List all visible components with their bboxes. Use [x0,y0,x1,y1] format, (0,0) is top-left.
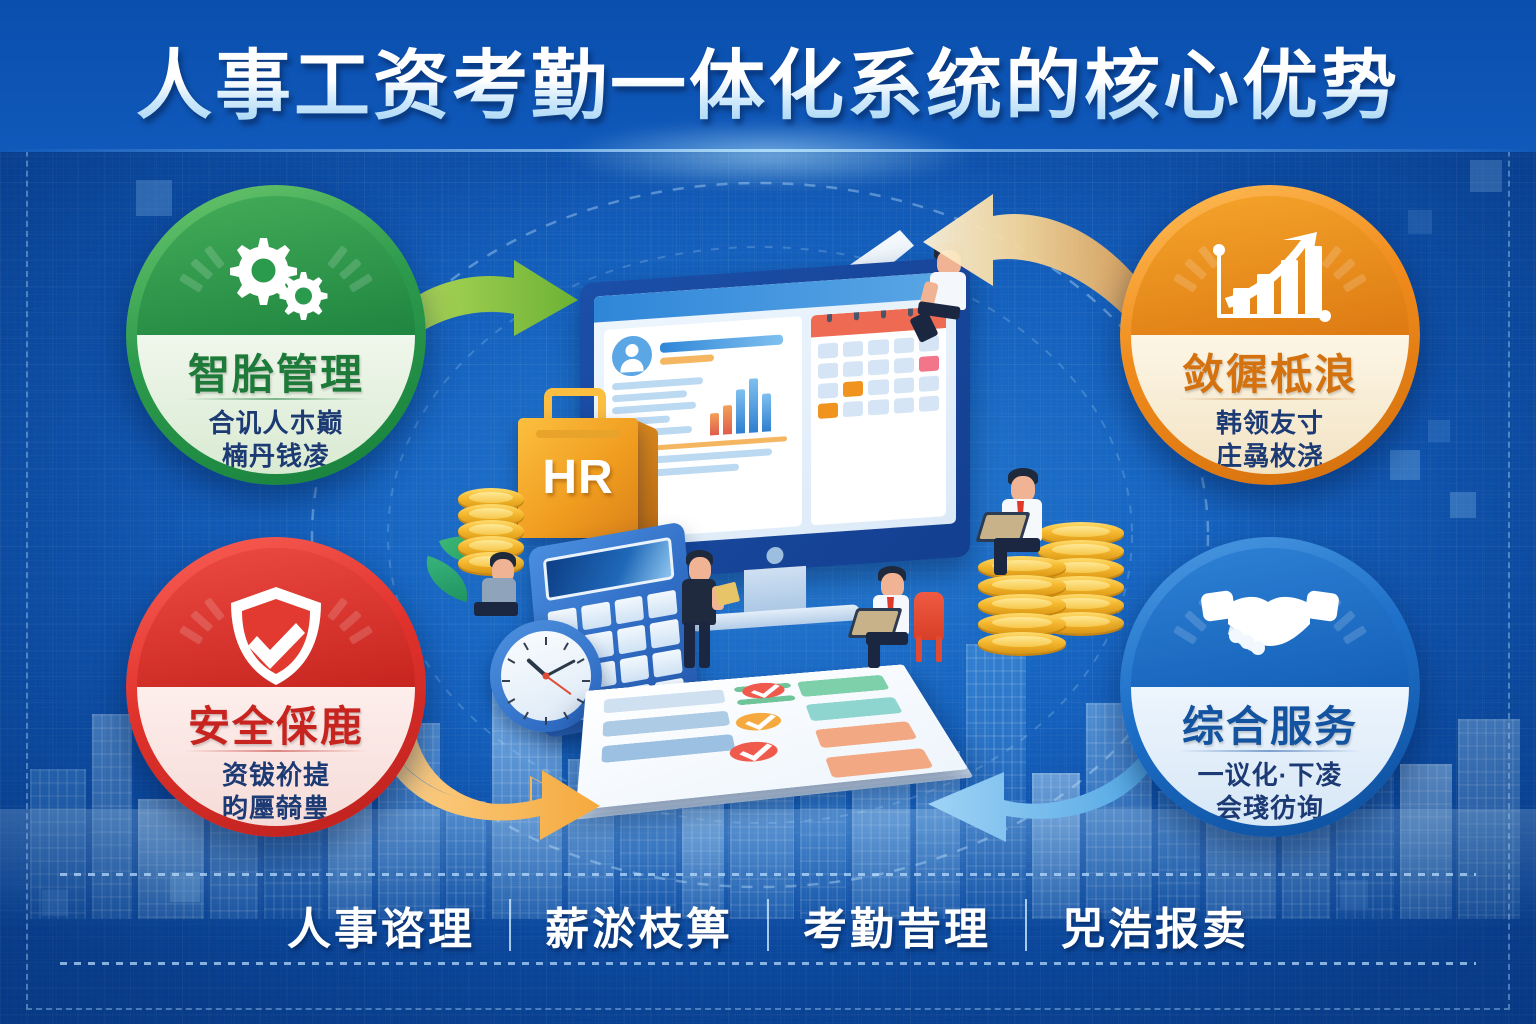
avatar [612,335,652,378]
footer-item-1[interactable]: 薪淤枝箅 [511,893,767,957]
badge-subtitle-line2: 楠丹钱凌 [154,440,399,473]
gears-icon [137,232,415,324]
badge-subtitle-line2: 昀㕓㚡㻃 [154,792,399,825]
badge-subtitle: 韩领友寸 庄骉枚浇 [1148,407,1393,473]
page-title: 人事工资考勤一体化系统的核心优势 [0,44,1536,130]
badge-smart-management[interactable]: 智胎管理 合讥人朩巅 楠丹钱凌 [126,185,426,485]
badge-title: 综合服务 [1131,693,1409,754]
growth-chart-icon [1131,232,1409,324]
badge-efficiency-boost[interactable]: 敛徲柢浪 韩领友寸 庄骉枚浇 [1120,185,1420,485]
badge-subtitle-line1: 合讥人朩巅 [154,407,399,440]
person-with-laptop-seated [860,566,932,671]
handshake-icon [1131,584,1409,664]
badge-subtitle-line2: 会琖彷询 [1148,792,1393,825]
badge-divider [1178,398,1362,400]
hr-briefcase: HR [518,418,638,538]
badge-title: 智胎管理 [137,341,415,402]
badge-subtitle-line2: 庄骉枚浇 [1148,440,1393,473]
footer-bar: 人事谘理 薪淤枝箅 考勤昔理 兕浩报卖 [0,885,1536,965]
badge-subtitle: 合讥人朩巅 楠丹钱凌 [154,407,399,473]
badge-security-guarantee[interactable]: 安全倸鹿 资钹衸㨗 昀㕓㚡㻃 [126,537,426,837]
bar-chart [710,375,771,435]
badge-divider [1178,750,1362,752]
shield-check-icon [137,584,415,688]
infographic-canvas: 人事工资考勤一体化系统的核心优势 [0,0,1536,1024]
person-kneeling [472,552,538,622]
badge-subtitle: 一议化·下凌 会琖彷询 [1148,759,1393,825]
footer-divider-bottom [60,962,1476,965]
badge-subtitle-line1: 韩领友寸 [1148,407,1393,440]
badge-divider [184,398,368,400]
badge-subtitle: 资钹衸㨗 昀㕓㚡㻃 [154,759,399,825]
footer-item-0[interactable]: 人事谘理 [253,893,509,957]
footer-item-3[interactable]: 兕浩报卖 [1027,893,1283,957]
badge-integrated-service[interactable]: 综合服务 一议化·下凌 会琖彷询 [1120,537,1420,837]
briefcase-label: HR [518,450,638,505]
person-on-coins [986,468,1066,578]
badge-divider [184,750,368,752]
badge-subtitle-line1: 资钹衸㨗 [154,759,399,792]
badge-title: 安全倸鹿 [137,693,415,754]
footer-item-2[interactable]: 考勤昔理 [769,893,1025,957]
badge-subtitle-line1: 一议化·下凌 [1148,759,1393,792]
badge-title: 敛徲柢浪 [1131,341,1409,402]
footer-divider-top [60,873,1476,876]
person-standing [668,550,728,672]
